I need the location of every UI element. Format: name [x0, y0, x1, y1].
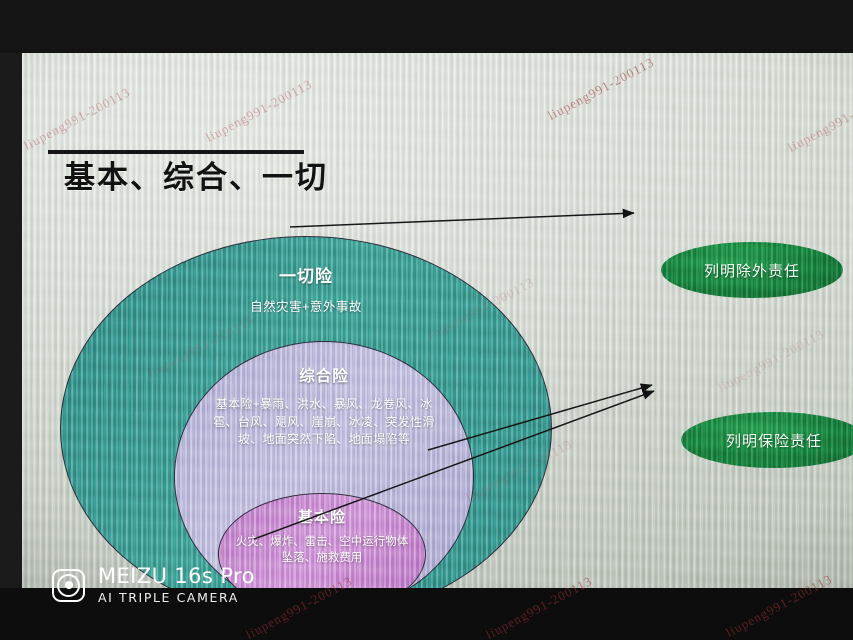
watermark: liupeng991-200113 — [203, 76, 315, 146]
camera-icon — [52, 569, 85, 602]
photo-of-slide: 一切险 自然灾害+意外事故 综合险 基本险+暴雨、洪水、暴风、龙卷风、冰雹、台风… — [0, 0, 853, 640]
arrow-to-excluded — [290, 213, 634, 227]
device-model-label: MEIZU 16s Pro — [98, 565, 255, 587]
ellipse-all-risks-body: 自然灾害+意外事故 — [250, 296, 362, 315]
watermark: liupeng991-200113 — [22, 84, 133, 154]
device-watermark: MEIZU 16s Pro AI TRIPLE CAMERA — [52, 565, 255, 605]
callout-excluded-liability[interactable]: 列明除外责任 — [661, 242, 843, 298]
watermark: liupeng991-200113 — [785, 86, 853, 156]
ellipse-all-risks-heading: 一切险 — [279, 262, 333, 287]
ellipse-comprehensive-body: 基本险+暴雨、洪水、暴风、龙卷风、冰雹、台风、飓风、崖崩、冰凌、突发性滑坡、地面… — [208, 396, 440, 449]
ellipse-basic-body: 火灾、爆炸、雷击、空中运行物体坠落、施救费用 — [233, 534, 411, 566]
device-camera-label: AI TRIPLE CAMERA — [98, 590, 255, 605]
callout-included-label: 列明保险责任 — [726, 430, 822, 451]
watermark: liupeng991-200113 — [545, 54, 657, 124]
slide-surface: 一切险 自然灾害+意外事故 综合险 基本险+暴雨、洪水、暴风、龙卷风、冰雹、台风… — [22, 53, 853, 588]
ellipse-comprehensive-heading: 综合险 — [299, 364, 349, 386]
photo-border-left — [0, 53, 22, 588]
page-title: 基本、综合、一切 — [64, 152, 328, 197]
callout-included-liability[interactable]: 列明保险责任 — [681, 412, 853, 468]
callout-excluded-label: 列明除外责任 — [704, 260, 800, 281]
ellipse-basic-heading: 基本险 — [298, 506, 346, 527]
photo-border-top — [0, 0, 853, 53]
watermark: liupeng991-200113 — [715, 326, 827, 396]
